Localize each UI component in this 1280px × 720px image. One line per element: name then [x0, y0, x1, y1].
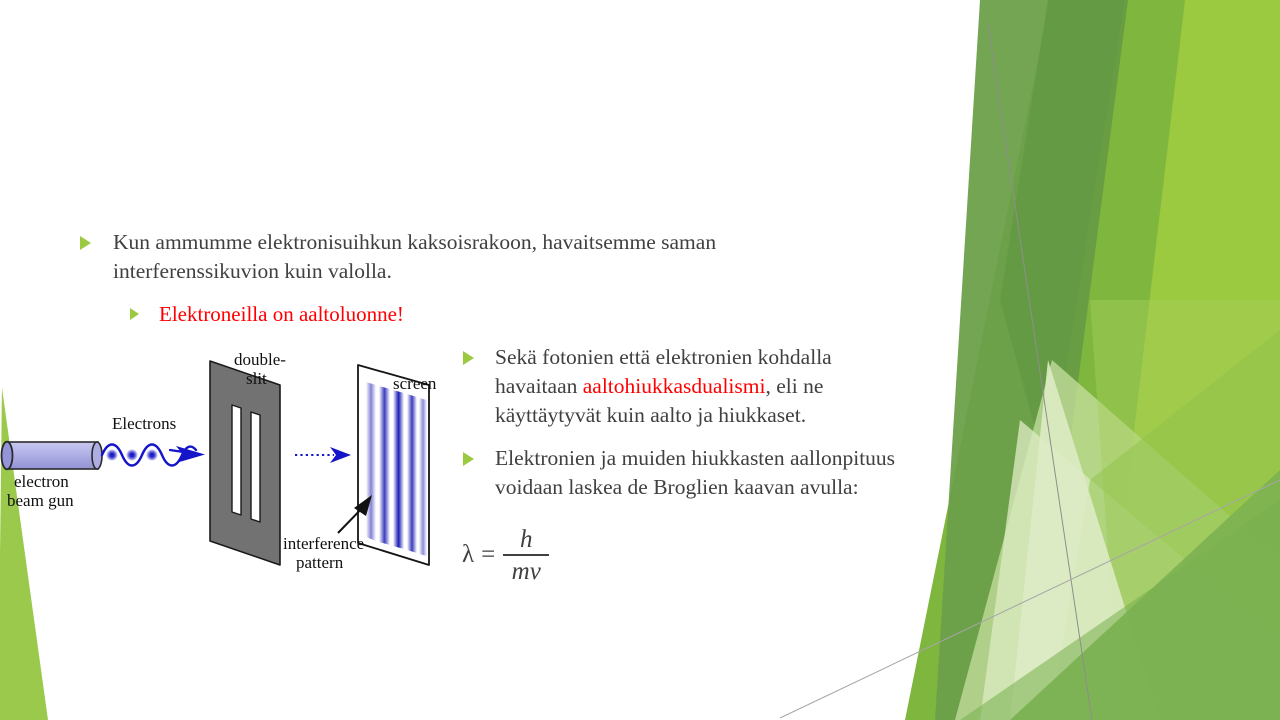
bullet-item-2: Elektroneilla on aaltoluonne! [130, 301, 730, 328]
bullet-item-3: Sekä fotonien että elektronien kohdalla … [463, 343, 908, 430]
electron-wave-icon [102, 445, 205, 466]
screen-icon [358, 365, 429, 565]
formula-lambda: λ [462, 541, 474, 569]
bullet-item-4: Elektronien ja muiden hiukkasten aallonp… [463, 444, 913, 502]
label-slit-line2: slit [246, 369, 267, 388]
label-slit-line1: double- [234, 350, 286, 369]
bullet-item-1: Kun ammumme elektronisuihkun kaksoisrako… [80, 228, 870, 286]
de-broglie-formula: λ = h mv [462, 527, 549, 584]
formula-numerator: h [514, 527, 539, 554]
label-screen: screen [393, 374, 437, 393]
label-electrons: Electrons [112, 414, 176, 433]
bullet-3-highlight: aaltohiukkasdualismi [583, 374, 766, 398]
double-slit-diagram: Electrons electron beam gun double- slit… [0, 343, 460, 583]
electron-gun-icon [2, 442, 103, 470]
label-pattern-line1: interference [283, 534, 364, 553]
triangle-bullet-icon [130, 308, 139, 320]
label-pattern-line2: pattern [296, 553, 344, 572]
double-slit-barrier-icon [210, 361, 280, 565]
triangle-bullet-icon [463, 351, 474, 365]
bullet-4-text: Elektronien ja muiden hiukkasten aallonp… [474, 444, 913, 502]
label-gun-line1: electron [14, 472, 69, 491]
formula-fraction: h mv [503, 527, 549, 584]
bullet-1-text: Kun ammumme elektronisuihkun kaksoisrako… [91, 228, 870, 286]
bullet-3-text: Sekä fotonien että elektronien kohdalla … [474, 343, 908, 430]
triangle-bullet-icon [80, 236, 91, 250]
label-gun-line2: beam gun [7, 491, 74, 510]
dotted-arrow-icon [295, 447, 351, 463]
triangle-bullet-icon [463, 452, 474, 466]
formula-equals: = [481, 541, 495, 569]
formula-denominator: mv [506, 556, 547, 584]
bullet-2-text: Elektroneilla on aaltoluonne! [139, 301, 404, 328]
slide-canvas: Kun ammumme elektronisuihkun kaksoisrako… [0, 0, 1280, 720]
slide-content: Kun ammumme elektronisuihkun kaksoisrako… [0, 0, 1280, 720]
